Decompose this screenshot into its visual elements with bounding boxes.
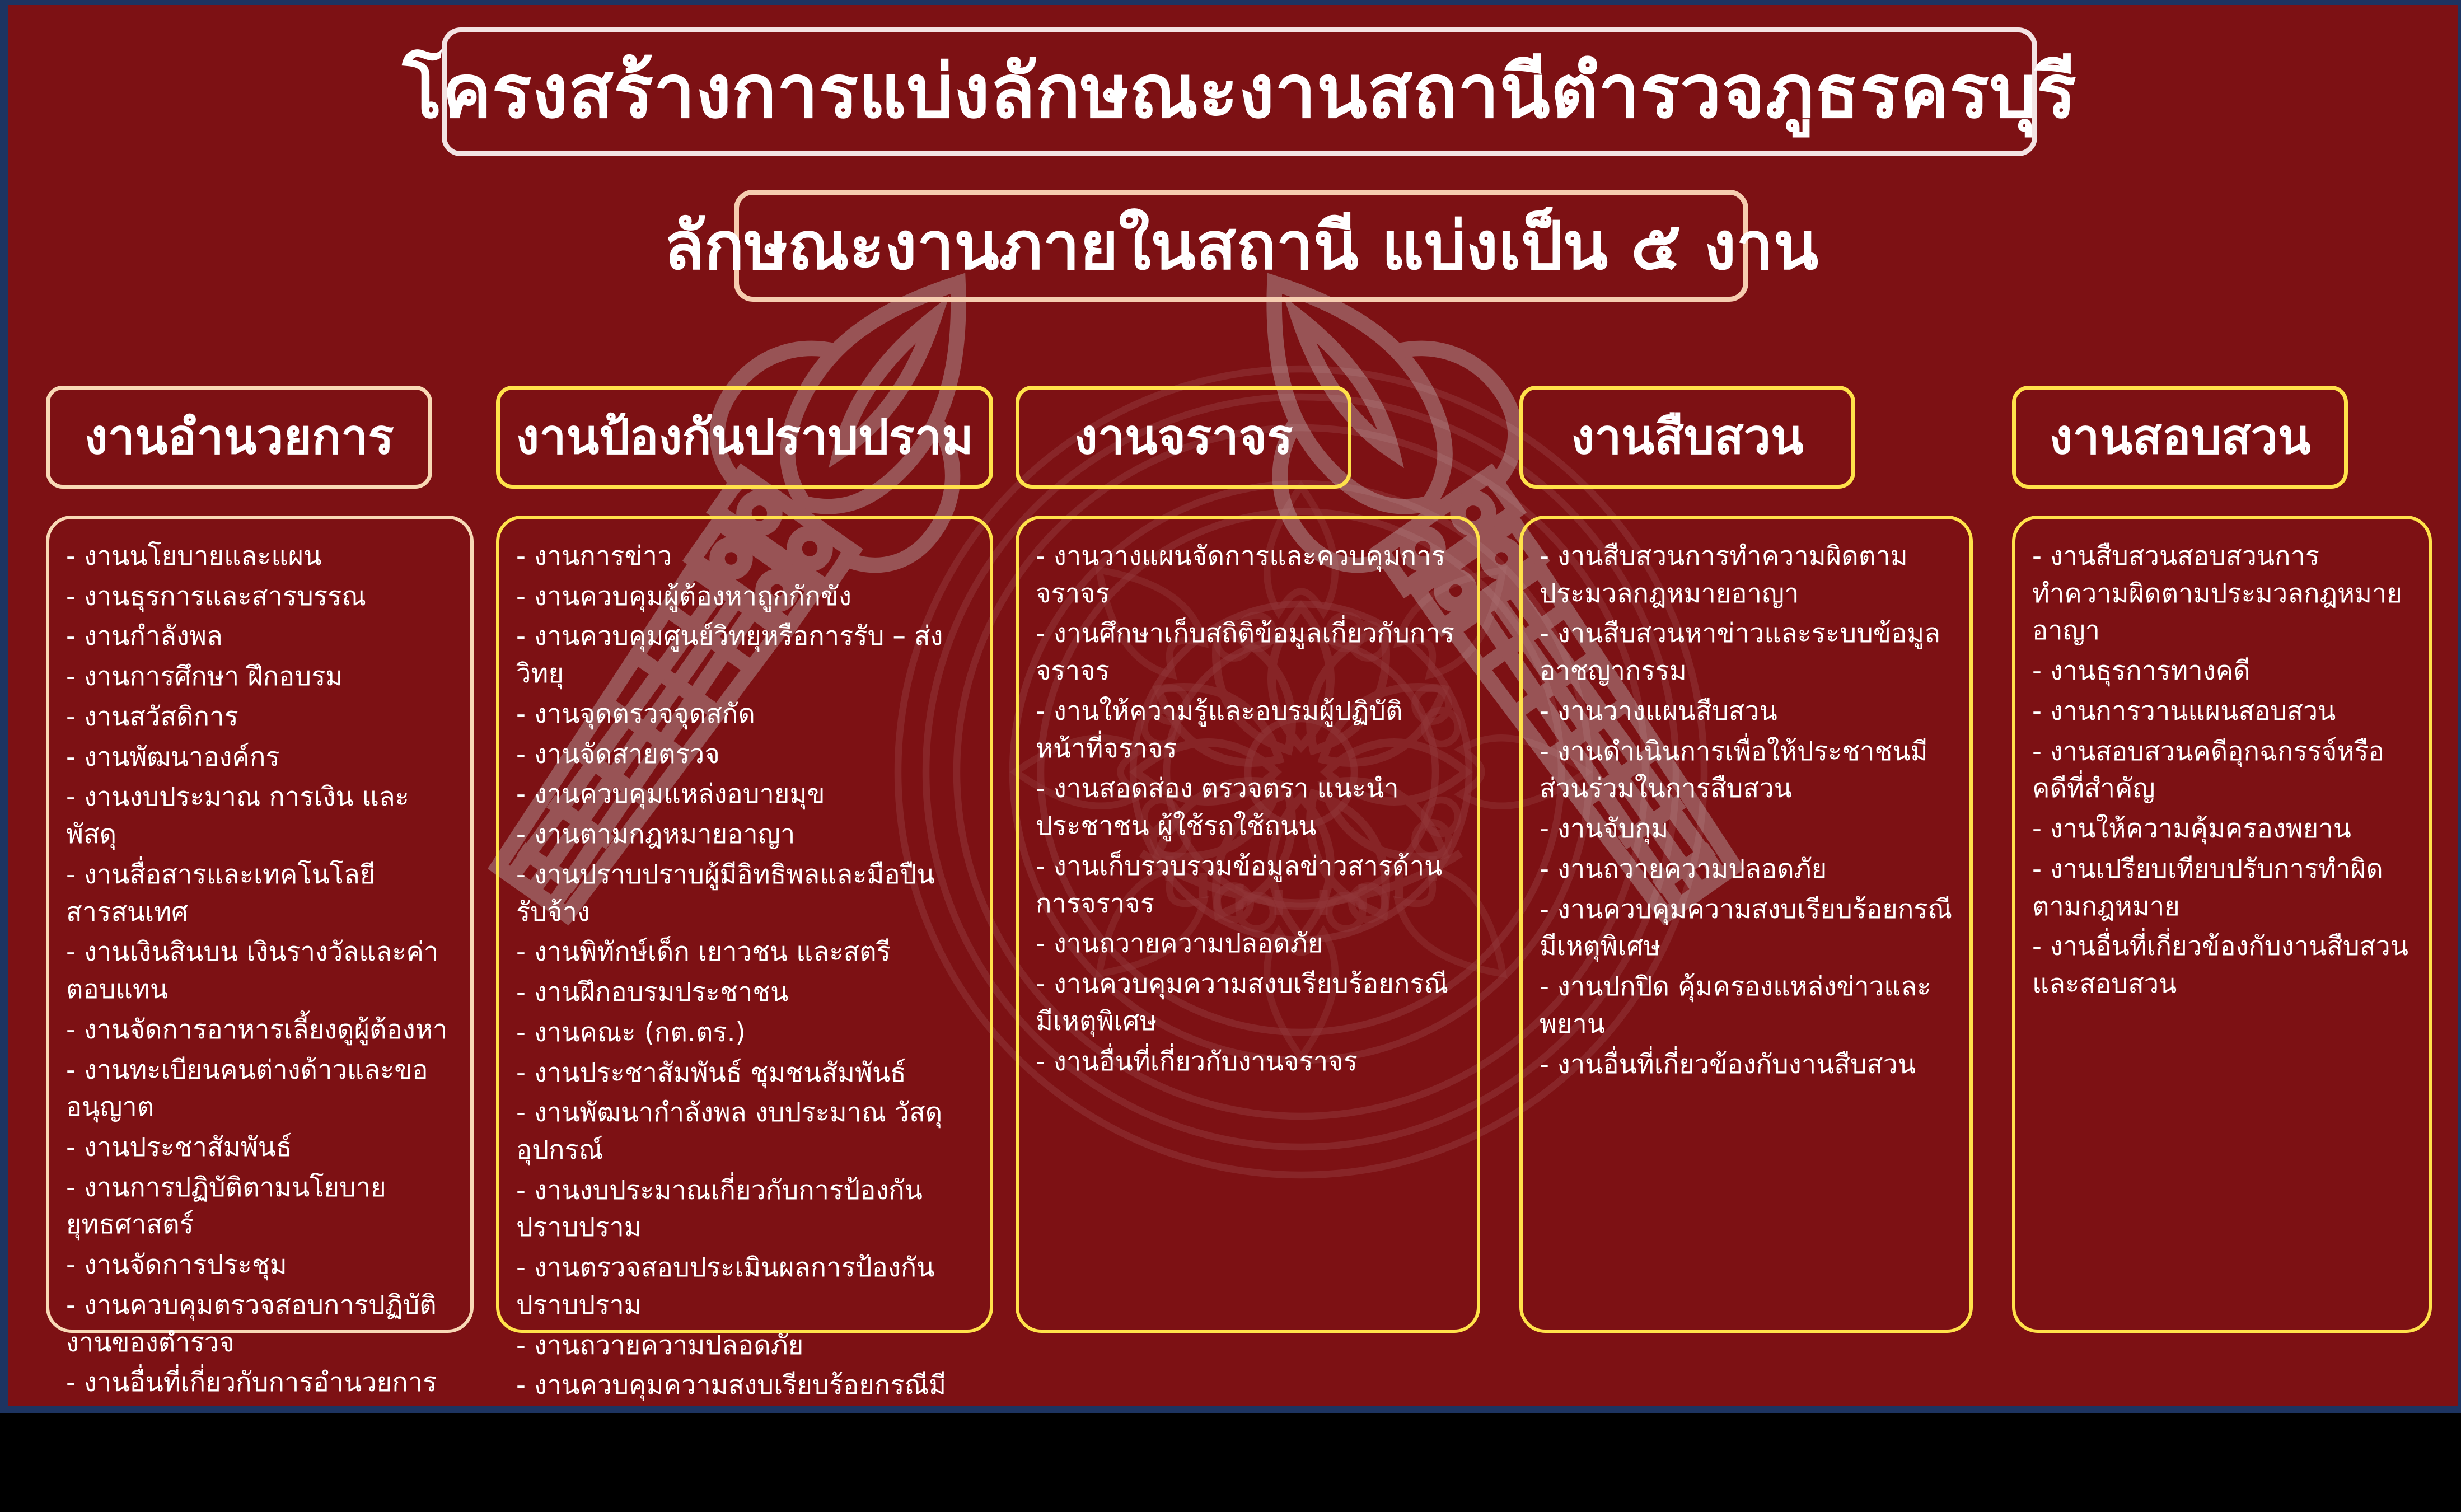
column-header-pongkan-prappram[interactable]: งานป้องกันปราบปราม xyxy=(496,386,993,489)
list-item: - งานอื่นที่เกี่ยวข้องกับงานสืบสวน xyxy=(1540,1046,1955,1084)
column-charachon: งานจราจร - งานวางแผนจัดการและควบคุมการจร… xyxy=(1016,386,1480,1333)
list-item: - งานดำเนินการเพื่อให้ประชาชนมีส่วนร่วมใ… xyxy=(1540,733,1955,808)
list-item: - งานนโยบายและแผน xyxy=(66,538,456,575)
list-item: - งานอื่นที่เกี่ยวข้องกับงานสืบสวนและสอบ… xyxy=(2032,928,2414,1003)
list-item: - งานพัฒนาองค์กร xyxy=(66,739,456,776)
list-item: - งานเปรียบเทียบปรับการทำผิดตามกฎหมาย xyxy=(2032,851,2414,925)
slide-root: โครงสร้างการแบ่งลักษณะงานสถานีตำรวจภูธรค… xyxy=(0,0,2461,1512)
list-item: - งานสวัสดิการ xyxy=(66,699,456,736)
list-item: - งานถวายความปลอดภัย xyxy=(1036,925,1462,963)
list-item: - งานตรวจสอบประเมินผลการป้องกันปราบปราม xyxy=(516,1249,975,1324)
column-heading-label: งานป้องกันปราบปราม xyxy=(516,413,974,461)
column-header-charachon[interactable]: งานจราจร xyxy=(1016,386,1351,489)
column-body-suepsuan: - งานสืบสวนการทำความผิดตามประมวลกฎหมายอา… xyxy=(1519,516,1973,1333)
list-item: - งานเก็บรวบรวมข้อมูลข่าวสารด้านการจราจร xyxy=(1036,848,1462,923)
column-body-pongkan-prappram: - งานการข่าว - งานควบคุมผู้ต้องหาถูกกักข… xyxy=(496,516,993,1333)
list-item: - งานการวานแผนสอบสวน xyxy=(2032,693,2414,731)
list-item: - งานจัดการอาหารเลี้ยงดูผู้ต้องหา xyxy=(66,1012,456,1049)
list-item: - งานงบประมาณ การเงิน และพัสดุ xyxy=(66,779,456,853)
list-item: - งานถวายความปลอดภัย xyxy=(1540,851,1955,888)
list-item: - งานทะเบียนคนต่างด้าวและขออนุญาต xyxy=(66,1052,456,1126)
slide-canvas: โครงสร้างการแบ่งลักษณะงานสถานีตำรวจภูธรค… xyxy=(8,5,2458,1406)
column-suepsuan: งานสืบสวน - งานสืบสวนการทำความผิดตามประม… xyxy=(1519,386,1973,1333)
list-item: - งานสืบสวนหาข่าวและระบบข้อมูลอาชญากรรม xyxy=(1540,615,1955,690)
list-item: - งานการศึกษา ฝึกอบรม xyxy=(66,658,456,696)
list-item: - งานจับกุม xyxy=(1540,811,1955,848)
list-item: - งานการปฏิบัติตามนโยบายยุทธศาสตร์ xyxy=(66,1169,456,1244)
list-item: - งานงบประมาณเกี่ยวกับการป้องกันปราบปราม xyxy=(516,1172,975,1247)
list-item: - งานประชาสัมพันธ์ xyxy=(66,1129,456,1167)
list-item: - งานกำลังพล xyxy=(66,618,456,656)
column-amnuaikan: งานอำนวยการ - งานนโยบายและแผน - งานธุรกา… xyxy=(46,386,474,1333)
list-item: - งานให้ความรู้และอบรมผู้ปฏิบัติหน้าที่จ… xyxy=(1036,693,1462,767)
list-item: - งานสืบสวนการทำความผิดตามประมวลกฎหมายอา… xyxy=(1540,538,1955,612)
list-item: - งานสืบสวนสอบสวนการทำความผิดตามประมวลกฎ… xyxy=(2032,538,2414,650)
list-item: - งานจัดสายตรวจ xyxy=(516,736,975,774)
slide-frame: โครงสร้างการแบ่งลักษณะงานสถานีตำรวจภูธรค… xyxy=(0,0,2461,1413)
list-item: - งานควบคุมตรวจสอบการปฏิบัติงานของตำรวจ xyxy=(66,1287,456,1361)
below-slide-area xyxy=(0,1413,2461,1512)
list-item: - งานควบคุมความสงบเรียบร้อยกรณีมีเหตุพิเ… xyxy=(1036,966,1462,1040)
list-item: - งานถวายความปลอดภัย xyxy=(516,1327,975,1365)
column-sopsuan: งานสอบสวน - งานสืบสวนสอบสวนการทำความผิดต… xyxy=(2012,386,2432,1333)
list-item: - งานควบคุมแหล่งอบายมุข xyxy=(516,776,975,813)
column-heading-label: งานอำนวยการ xyxy=(84,413,394,461)
column-pongkan-prappram: งานป้องกันปราบปราม - งานการข่าว - งานควบ… xyxy=(496,386,993,1333)
list-item: - งานสอบสวนคดีอุกฉกรรจ์หรือคดีที่สำคัญ xyxy=(2032,733,2414,808)
list-item: - งานอื่นที่เกี่ยวกับงานจราจร xyxy=(1036,1043,1462,1081)
list-item: - งานควบคุมความสงบเรียบร้อยกรณีมีเหตุพิเ… xyxy=(1540,891,1955,966)
list-item: - งานตามกฎหมายอาญา xyxy=(516,816,975,854)
list-item: - งานธุรการทางคดี xyxy=(2032,653,2414,690)
list-item: - งานเงินสินบน เงินรางวัลและค่าตอบแทน xyxy=(66,934,456,1008)
list-item: - งานสื่อสารและเทคโนโลยีสารสนเทศ xyxy=(66,856,456,931)
list-item: - งานฝึกอบรมประชาชน xyxy=(516,974,975,1012)
work-division-columns: งานอำนวยการ - งานนโยบายและแผน - งานธุรกา… xyxy=(8,5,2458,1406)
column-header-sopsuan[interactable]: งานสอบสวน xyxy=(2012,386,2348,489)
list-item: - งานจัดการประชุม xyxy=(66,1247,456,1284)
list-item: - งานพัฒนากำลังพล งบประมาณ วัสดุอุปกรณ์ xyxy=(516,1094,975,1169)
column-body-charachon: - งานวางแผนจัดการและควบคุมการจราจร - งาน… xyxy=(1016,516,1480,1333)
list-item: - งานควบคุมศูนย์วิทยุหรือการรับ – ส่งวิท… xyxy=(516,618,975,692)
column-heading-label: งานสอบสวน xyxy=(2049,413,2310,461)
list-item: - งานวางแผนสืบสวน xyxy=(1540,693,1955,731)
list-item: - งานการข่าว xyxy=(516,538,975,575)
column-heading-label: งานจราจร xyxy=(1074,413,1293,461)
list-item: - งานศึกษาเก็บสถิติข้อมูลเกี่ยวกับการจรา… xyxy=(1036,615,1462,690)
column-header-amnuaikan[interactable]: งานอำนวยการ xyxy=(46,386,432,489)
list-item: - งานพิทักษ์เด็ก เยาวชน และสตรี xyxy=(516,934,975,971)
list-item: - งานคณะ (กต.ตร.) xyxy=(516,1014,975,1052)
list-item: - งานสอดส่อง ตรวจตรา แนะนำประชาชน ผู้ใช้… xyxy=(1036,770,1462,845)
list-item: - งานวางแผนจัดการและควบคุมการจราจร xyxy=(1036,538,1462,612)
list-item: - งานควบคุมความสงบเรียบร้อยกรณีมีเหตุพิเ… xyxy=(516,1367,975,1406)
list-item: - งานจุดตรวจจุดสกัด xyxy=(516,696,975,733)
list-item: - งานปราบปราบผู้มีอิทธิพลและมือปืนรับจ้า… xyxy=(516,856,975,931)
column-header-suepsuan[interactable]: งานสืบสวน xyxy=(1519,386,1855,489)
column-body-amnuaikan: - งานนโยบายและแผน - งานธุรการและสารบรรณ … xyxy=(46,516,474,1333)
list-item: - งานอื่นที่เกี่ยวกับการอำนวยการ xyxy=(66,1364,456,1402)
list-item: - งานประชาสัมพันธ์ ชุมชนสัมพันธ์ xyxy=(516,1055,975,1092)
list-item: - งานปกปิด คุ้มครองแหล่งข่าวและพยาน xyxy=(1540,968,1955,1043)
list-item: - งานธุรการและสารบรรณ xyxy=(66,578,456,616)
column-body-sopsuan: - งานสืบสวนสอบสวนการทำความผิดตามประมวลกฎ… xyxy=(2012,516,2432,1333)
list-item: - งานให้ความคุ้มครองพยาน xyxy=(2032,811,2414,848)
list-item: - งานควบคุมผู้ต้องหาถูกกักขัง xyxy=(516,578,975,616)
column-heading-label: งานสืบสวน xyxy=(1571,413,1804,461)
